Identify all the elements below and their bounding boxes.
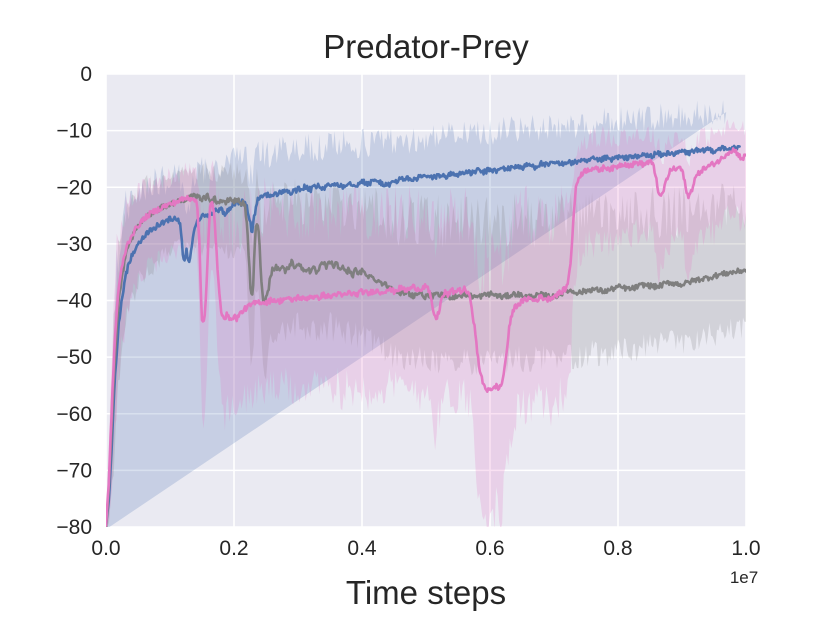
x-axis-offset-label: 1e7 bbox=[730, 568, 758, 587]
y-tick-label: 0 bbox=[80, 63, 92, 86]
y-tick-label: −30 bbox=[56, 233, 92, 256]
y-tick-label: −60 bbox=[56, 403, 92, 426]
x-axis-label: Time steps bbox=[346, 574, 506, 611]
y-axis-ticks: 0−10−20−30−40−50−60−70−80 bbox=[56, 63, 92, 539]
x-tick-label: 0.0 bbox=[91, 537, 120, 560]
y-tick-label: −50 bbox=[56, 346, 92, 369]
y-tick-label: −80 bbox=[56, 516, 92, 539]
y-tick-label: −40 bbox=[56, 290, 92, 313]
chart-title: Predator-Prey bbox=[323, 28, 529, 65]
x-tick-label: 0.2 bbox=[219, 537, 248, 560]
y-tick-label: −70 bbox=[56, 459, 92, 482]
x-tick-label: 1.0 bbox=[731, 537, 760, 560]
x-tick-label: 0.4 bbox=[347, 537, 377, 560]
chart-figure: 0.00.20.40.60.81.0 0−10−20−30−40−50−60−7… bbox=[0, 0, 830, 623]
y-tick-label: −10 bbox=[56, 120, 92, 143]
x-tick-label: 0.6 bbox=[475, 537, 504, 560]
x-tick-label: 0.8 bbox=[603, 537, 632, 560]
y-tick-label: −20 bbox=[56, 176, 92, 199]
